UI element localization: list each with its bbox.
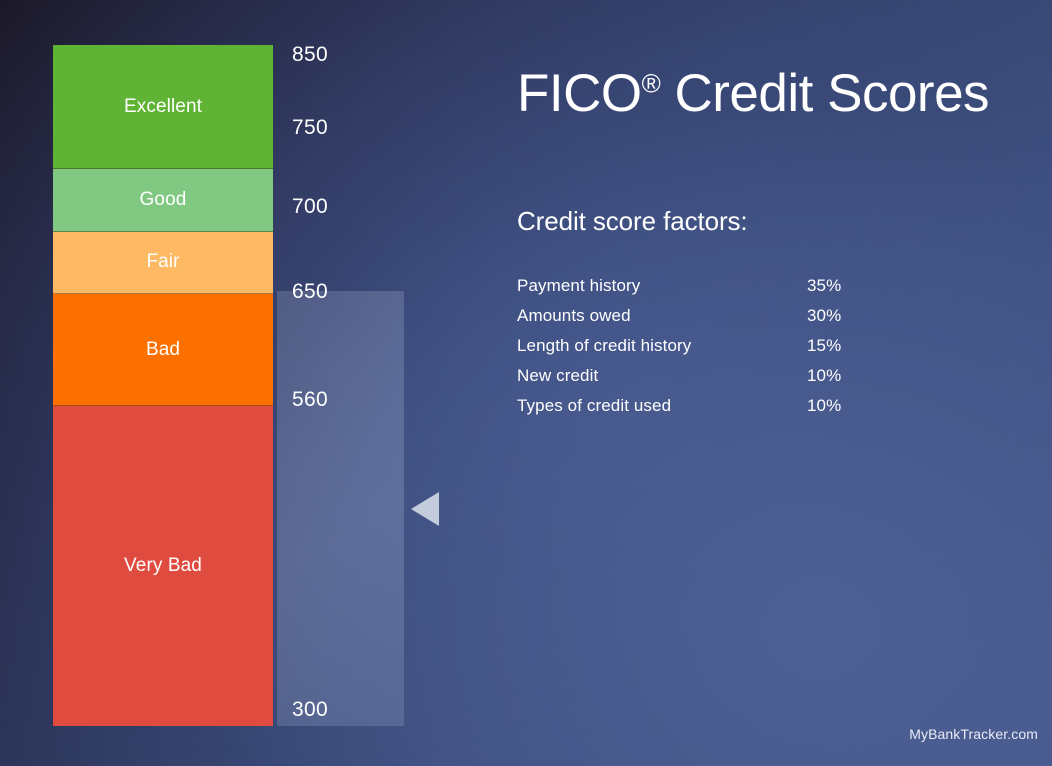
factor-name: Payment history xyxy=(517,275,807,297)
factor-weight: 30% xyxy=(807,305,841,327)
factors-heading: Credit score factors: xyxy=(517,205,748,237)
factor-name: Length of credit history xyxy=(517,335,807,357)
score-band-bad: Bad xyxy=(53,294,273,406)
axis-tick-650: 650 xyxy=(292,281,328,302)
score-band-fair: Fair xyxy=(53,232,273,295)
factor-row: Length of credit history 15% xyxy=(517,335,877,365)
info-panel: FICO® Credit Scores Credit score factors… xyxy=(517,0,1052,766)
factor-row: Amounts owed 30% xyxy=(517,305,877,335)
factor-row: Types of credit used 10% xyxy=(517,395,877,425)
watermark: MyBankTracker.com xyxy=(909,726,1038,742)
registered-trademark-icon: ® xyxy=(642,68,661,98)
axis-tick-560: 560 xyxy=(292,389,328,410)
factor-name: Amounts owed xyxy=(517,305,807,327)
factor-name: Types of credit used xyxy=(517,395,807,417)
factor-weight: 35% xyxy=(807,275,841,297)
score-band-label: Fair xyxy=(146,251,179,273)
axis-tick-300: 300 xyxy=(292,699,328,720)
factor-weight: 10% xyxy=(807,395,841,417)
score-band-excellent: Excellent xyxy=(53,45,273,169)
score-band-good: Good xyxy=(53,169,273,232)
score-range-marker-arrow-icon xyxy=(411,492,439,526)
factor-weight: 15% xyxy=(807,335,841,357)
factor-row: New credit 10% xyxy=(517,365,877,395)
factor-weight: 10% xyxy=(807,365,841,387)
slide-canvas: Excellent Good Fair Bad Very Bad 850 750… xyxy=(0,0,1052,766)
score-band-stack: Excellent Good Fair Bad Very Bad xyxy=(53,45,273,726)
score-band-label: Bad xyxy=(146,339,180,361)
factor-row: Payment history 35% xyxy=(517,275,877,305)
page-title-rest: Credit Scores xyxy=(660,64,989,123)
score-band-very-bad: Very Bad xyxy=(53,406,273,726)
axis-tick-850: 850 xyxy=(292,44,328,65)
page-title-brand: FICO xyxy=(517,64,642,123)
factor-name: New credit xyxy=(517,365,807,387)
score-band-label: Excellent xyxy=(124,96,202,118)
axis-tick-700: 700 xyxy=(292,196,328,217)
axis-tick-750: 750 xyxy=(292,117,328,138)
credit-score-chart: Excellent Good Fair Bad Very Bad 850 750… xyxy=(0,0,470,766)
credit-score-factors-list: Payment history 35% Amounts owed 30% Len… xyxy=(517,275,877,425)
score-range-highlight-panel xyxy=(277,291,404,726)
score-band-label: Very Bad xyxy=(124,555,202,577)
score-band-label: Good xyxy=(140,189,187,211)
page-title: FICO® Credit Scores xyxy=(517,63,989,125)
